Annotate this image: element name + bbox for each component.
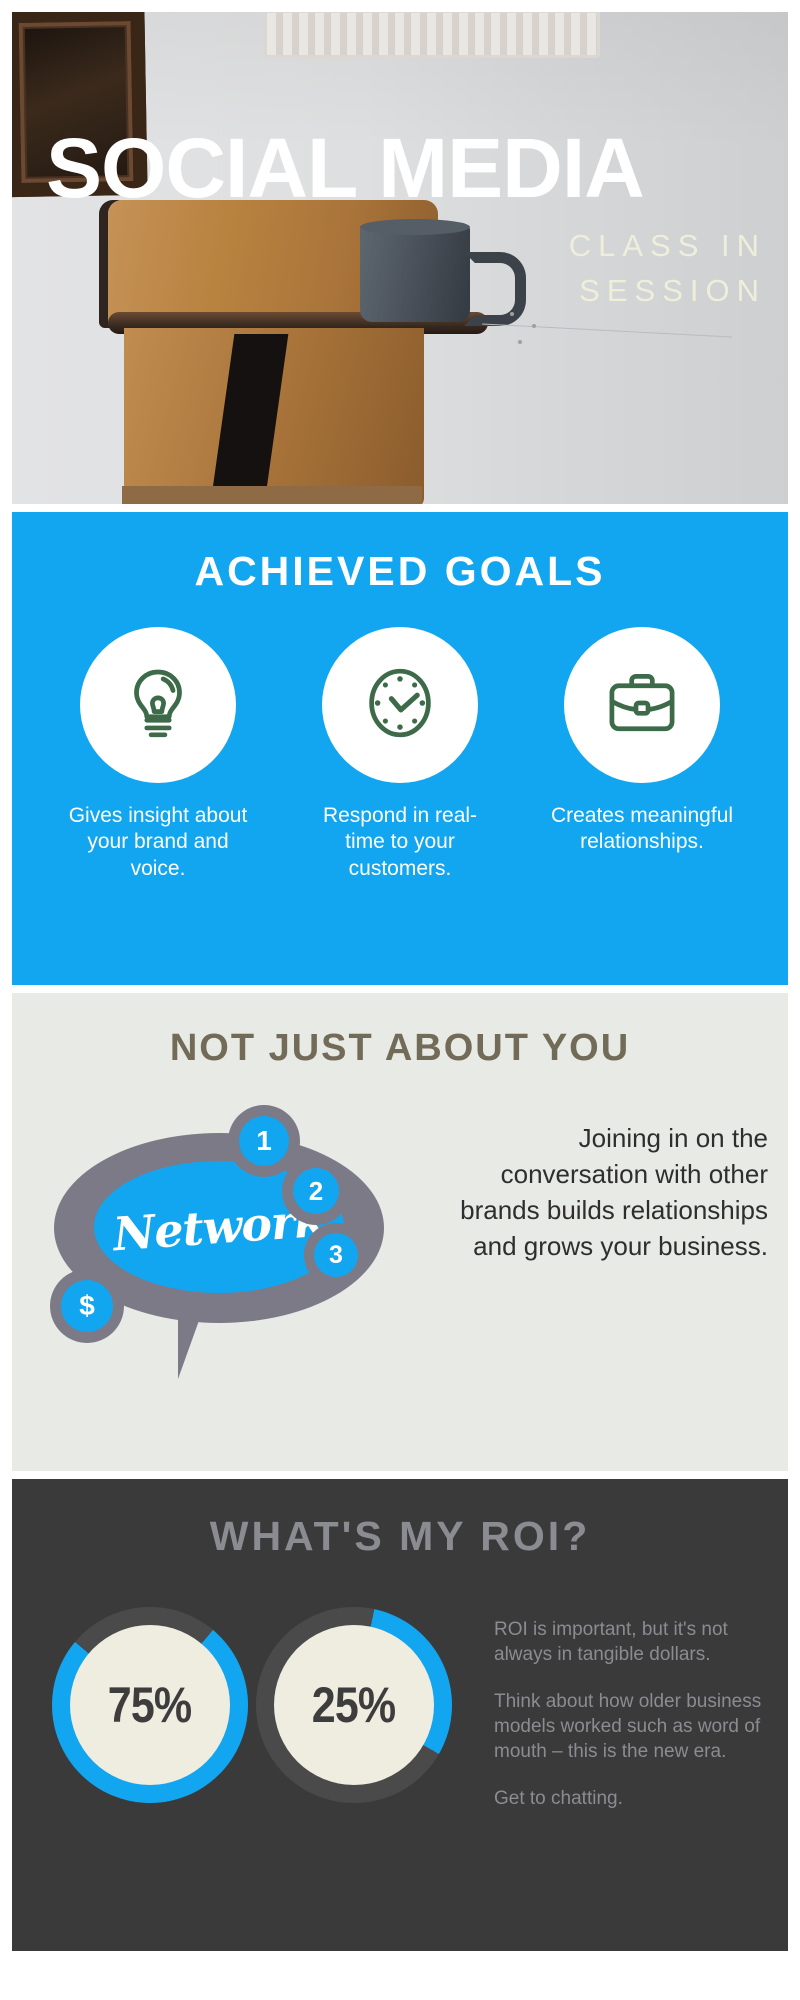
donut-chart-25: 25% [256, 1607, 452, 1803]
network-node-3: 3 [304, 1223, 368, 1287]
achieved-goals-section: ACHIEVED GOALS [12, 512, 788, 985]
goal-icon-circle [80, 627, 236, 783]
network-node-label: 2 [293, 1168, 339, 1214]
goal-item-label: Creates meaningful relationships. [547, 803, 737, 856]
briefcase-icon [599, 660, 685, 751]
network-node-dollar: $ [50, 1269, 124, 1343]
goal-item-label: Respond in real-time to your customers. [305, 803, 495, 882]
clock-icon [357, 660, 443, 751]
roi-paragraph: Get to chatting. [494, 1786, 766, 1811]
hero-subtitle: CLASS IN SESSION [426, 224, 766, 314]
hero-subtitle-line-2: SESSION [426, 269, 766, 314]
donut-hole: 25% [274, 1625, 434, 1785]
network-paragraph: Joining in on the conversation with othe… [438, 1121, 768, 1265]
roi-section-title: WHAT'S MY ROI? [12, 1513, 788, 1560]
donut-hole: 75% [70, 1625, 230, 1785]
infographic-page: SOCIAL MEDIA CLASS IN SESSION ACHIEVED G… [0, 0, 800, 2000]
chair-leg-decoration [122, 486, 422, 504]
goal-item-label: Gives insight about your brand and voice… [63, 803, 253, 882]
roi-paragraph: Think about how older business models wo… [494, 1689, 766, 1764]
lightbulb-icon [115, 660, 201, 751]
achieved-goals-title: ACHIEVED GOALS [12, 548, 788, 595]
roi-text-block: ROI is important, but it's not always in… [494, 1617, 766, 1811]
dollar-icon: $ [61, 1280, 113, 1332]
wall-speck-decoration [532, 324, 536, 328]
network-node-label: 1 [239, 1116, 289, 1166]
goal-icon-circle [322, 627, 478, 783]
achieved-goals-row: Gives insight about your brand and voice… [12, 627, 788, 882]
speech-bubble-tail [178, 1301, 220, 1379]
hero-title: SOCIAL MEDIA [46, 130, 644, 207]
network-section: NOT JUST ABOUT YOU Network 1 2 3 $ Joini… [12, 993, 788, 1471]
goal-item-relationships: Creates meaningful relationships. [547, 627, 737, 882]
hero-banner: SOCIAL MEDIA CLASS IN SESSION [12, 12, 788, 504]
goal-icon-circle [564, 627, 720, 783]
donut-percent-label: 75% [108, 1676, 191, 1734]
network-node-1: 1 [228, 1105, 300, 1177]
roi-section: WHAT'S MY ROI? 75% 25% ROI is important,… [12, 1479, 788, 1951]
donut-chart-75: 75% [52, 1607, 248, 1803]
network-section-title: NOT JUST ABOUT YOU [12, 1027, 788, 1070]
network-bubble-graphic: Network 1 2 3 $ [32, 1105, 432, 1425]
network-node-2: 2 [282, 1157, 350, 1225]
roi-paragraph: ROI is important, but it's not always in… [494, 1617, 766, 1667]
donut-percent-label: 25% [312, 1676, 395, 1734]
goal-item-insight: Gives insight about your brand and voice… [63, 627, 253, 882]
hero-subtitle-line-1: CLASS IN [426, 224, 766, 269]
network-node-label: 3 [314, 1233, 358, 1277]
wall-plaque-decoration [264, 12, 600, 58]
roi-donut-charts: 75% 25% [52, 1607, 452, 1803]
goal-item-realtime: Respond in real-time to your customers. [305, 627, 495, 882]
wall-speck-decoration [518, 340, 522, 344]
